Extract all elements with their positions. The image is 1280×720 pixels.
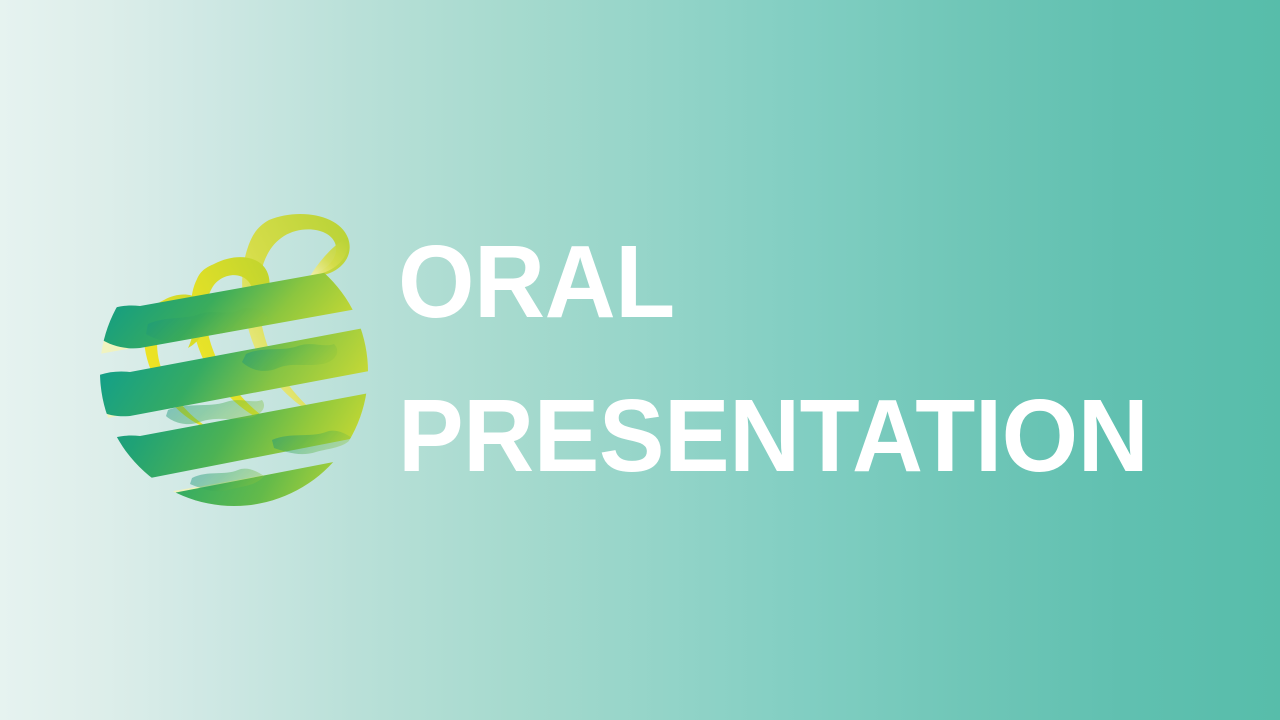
title-line-presentation: PRESENTATION	[398, 386, 1162, 486]
title-block: ORAL PRESENTATION	[398, 232, 1198, 486]
logo-globe-bands	[96, 260, 376, 516]
title-line-oral: ORAL	[398, 232, 1162, 332]
title-slide: ORAL PRESENTATION	[0, 0, 1280, 720]
globe-ribbon-logo	[96, 204, 376, 516]
